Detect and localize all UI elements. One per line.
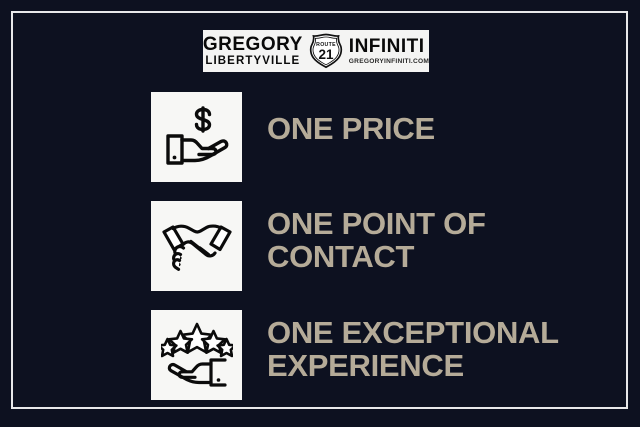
logo-brand-secondary: INFINITI (349, 37, 425, 56)
feature-row-one-exceptional-experience: ONE EXCEPTIONAL EXPERIENCE (151, 310, 559, 400)
hand-holding-stars-icon (151, 310, 242, 400)
feature-row-one-price: ONE PRICE (151, 92, 435, 182)
feature-label: ONE PRICE (267, 113, 435, 146)
logo-website-url: GREGORYINFINITI.COM (349, 59, 429, 66)
feature-label: ONE POINT OF CONTACT (267, 208, 486, 274)
dealership-logo: GREGORY LIBERTYVILLE ROUTE 21 INFINITI G… (203, 30, 429, 72)
handshake-icon (151, 201, 242, 291)
logo-brand-primary: GREGORY (203, 35, 303, 54)
svg-text:21: 21 (318, 47, 334, 62)
feature-label: ONE EXCEPTIONAL EXPERIENCE (267, 317, 559, 383)
route-21-shield-icon: ROUTE 21 (309, 33, 343, 69)
promo-poster: GREGORY LIBERTYVILLE ROUTE 21 INFINITI G… (0, 0, 640, 427)
logo-wordmark-left: GREGORY LIBERTYVILLE (203, 35, 303, 68)
logo-brand-location: LIBERTYVILLE (205, 56, 300, 68)
hand-holding-dollar-icon (151, 92, 242, 182)
logo-wordmark-right: INFINITI GREGORYINFINITI.COM (349, 37, 429, 66)
feature-row-one-point-of-contact: ONE POINT OF CONTACT (151, 201, 486, 291)
